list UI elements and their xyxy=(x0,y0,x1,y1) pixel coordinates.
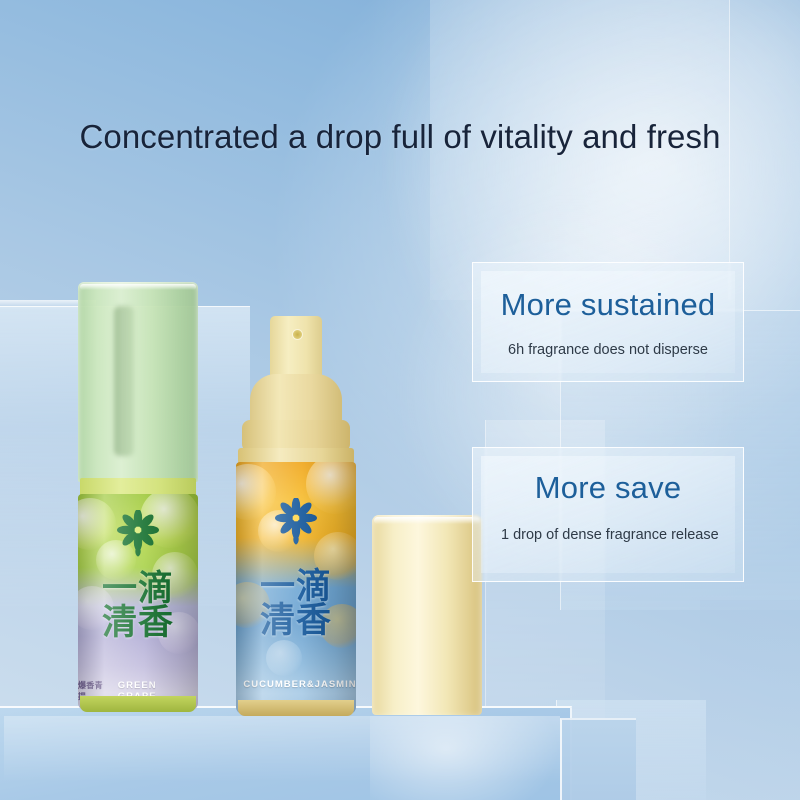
page-headline: Concentrated a drop full of vitality and… xyxy=(0,118,800,156)
bottle-body-green: 一滴 清香 爆香青提 GREEN GRAPE xyxy=(78,494,198,710)
feature-subtitle-more-sustained: 6h fragrance does not disperse xyxy=(473,341,743,359)
spray-hole-icon xyxy=(293,330,302,339)
promo-scene: Concentrated a drop full of vitality and… xyxy=(0,0,800,800)
bottle-base-green xyxy=(80,696,196,712)
product-bottle-green-grape[interactable]: 一滴 清香 爆香青提 GREEN GRAPE xyxy=(78,282,198,710)
feature-card-more-save[interactable]: More save 1 drop of dense fragrance rele… xyxy=(472,447,744,582)
feature-title-more-sustained: More sustained xyxy=(473,287,743,323)
bottle-base-yellow xyxy=(238,700,354,716)
bottle-sheen-yellow xyxy=(236,462,356,714)
bottle-body-yellow: 一滴 清香 青瓜茉莉 CUCUMBER&JASMINE xyxy=(236,462,356,714)
podium-highlight xyxy=(370,716,560,800)
feature-title-more-save: More save xyxy=(473,470,743,506)
product-podium-side xyxy=(560,718,636,800)
detached-bottle-cap[interactable] xyxy=(372,515,482,715)
feature-subtitle-more-save: 1 drop of dense fragrance release xyxy=(473,526,743,544)
bottle-sheen-green xyxy=(78,494,198,710)
product-bottle-cucumber-jasmine[interactable]: 一滴 清香 青瓜茉莉 CUCUMBER&JASMINE xyxy=(236,316,356,714)
pump-nozzle-yellow[interactable] xyxy=(270,316,322,378)
glass-panel-bottom-right xyxy=(700,600,800,800)
bottle-cap-green xyxy=(78,282,198,482)
feature-card-more-sustained[interactable]: More sustained 6h fragrance does not dis… xyxy=(472,262,744,382)
